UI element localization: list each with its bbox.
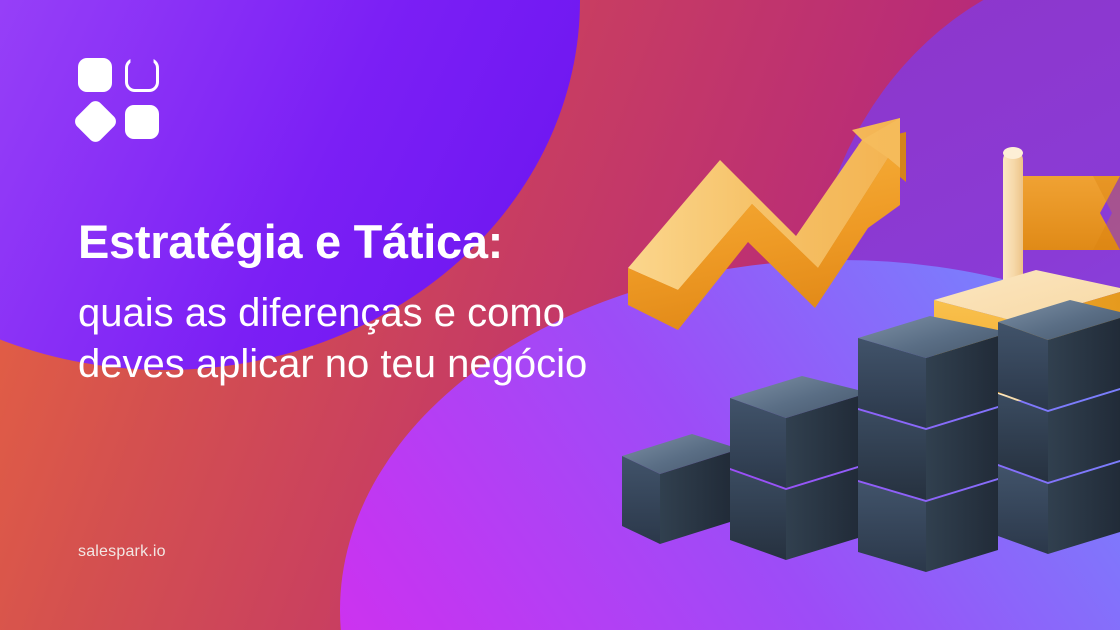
logo-diamond-bottom-left-icon: [72, 98, 119, 145]
subtitle-line-1: quais as diferenças e como: [78, 288, 718, 339]
page-subtitle: quais as diferenças e como deves aplicar…: [78, 288, 718, 390]
logo-square-top-left-icon: [78, 58, 112, 92]
logo-square-bottom-right-icon: [125, 105, 159, 139]
page-title: Estratégia e Tática:: [78, 214, 503, 269]
brand-url[interactable]: salespark.io: [78, 543, 166, 561]
social-card: Estratégia e Tática: quais as diferenças…: [0, 0, 1120, 630]
stair-column-2: [730, 376, 858, 560]
logo-square-outline-top-right-icon: [125, 58, 159, 92]
subtitle-line-2: deves aplicar no teu negócio: [78, 339, 718, 390]
stair-column-1: [622, 434, 730, 544]
salespark-logo[interactable]: [78, 58, 160, 140]
stair-column-3: [858, 316, 998, 572]
stair-column-4: [998, 300, 1120, 554]
